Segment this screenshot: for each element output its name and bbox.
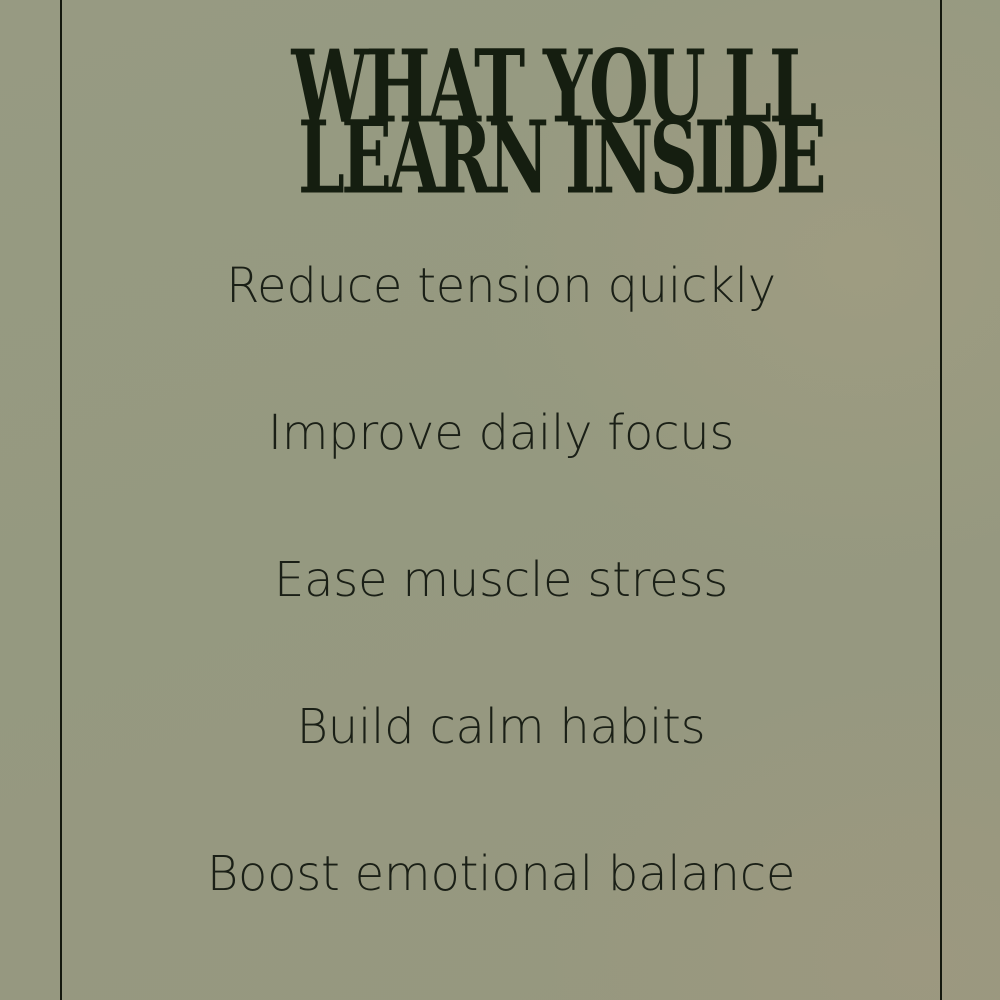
poster-canvas: WHAT YOU LL LEARN INSIDE Reduce tension … [0,0,1000,1000]
list-item: Reduce tension quickly [226,261,776,408]
benefits-list: Reduce tension quickly Improve daily foc… [62,261,940,996]
page-title-line-2: LEARN INSIDE [298,117,704,200]
list-item: Ease muscle stress [274,555,728,702]
page-title: WHAT YOU LL LEARN INSIDE [239,46,763,189]
list-item: Improve daily focus [268,408,734,555]
poster-content: WHAT YOU LL LEARN INSIDE Reduce tension … [62,0,940,1000]
list-item: Boost emotional balance [207,849,795,996]
list-item: Build calm habits [297,702,706,849]
right-border-rule [940,0,942,1000]
